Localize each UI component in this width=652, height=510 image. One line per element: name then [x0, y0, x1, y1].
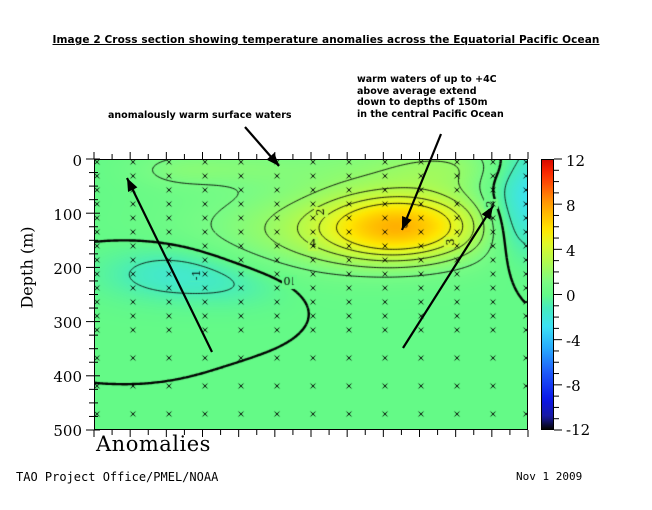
footer-credit: TAO Project Office/PMEL/NOAA [16, 470, 218, 484]
colorbar-label-m8: -8 [566, 377, 612, 395]
colorbar-label-m12: -12 [566, 421, 612, 439]
y-tick-label-500: 500 [36, 422, 82, 440]
annotation-warm-core: warm waters of up to +4C above average e… [357, 74, 504, 120]
y-tick-label-100: 100 [36, 206, 82, 224]
y-tick-label-200: 200 [36, 260, 82, 278]
colorbar-gradient [542, 160, 553, 429]
y-tick-label-400: 400 [36, 368, 82, 386]
anomaly-cross-section-plot [94, 159, 528, 430]
page-title-part-a: Image 2 Cross section showing temperatur… [53, 34, 430, 46]
y-tick-label-300: 300 [36, 314, 82, 332]
colorbar-label-8: 8 [566, 197, 612, 215]
x-axis-title: Anomalies [96, 432, 211, 456]
footer-date: Nov 1 2009 [516, 470, 582, 483]
y-axis-title: Depth (m) [18, 208, 37, 328]
colorbar-label-0: 0 [566, 287, 612, 305]
anomaly-field-canvas [95, 160, 527, 429]
annotation-warm-surface-waters: anomalously warm surface waters [108, 110, 292, 122]
page-title-part-c: Equatorial Pacific Ocean [450, 34, 600, 46]
y-tick-label-0: 0 [36, 152, 82, 170]
colorbar [541, 159, 554, 430]
colorbar-label-4: 4 [566, 242, 612, 260]
colorbar-label-m4: -4 [566, 332, 612, 350]
page-title: Image 2 Cross section showing temperatur… [0, 34, 652, 46]
page-title-part-b: the [430, 34, 450, 46]
colorbar-label-12: 12 [566, 152, 612, 170]
